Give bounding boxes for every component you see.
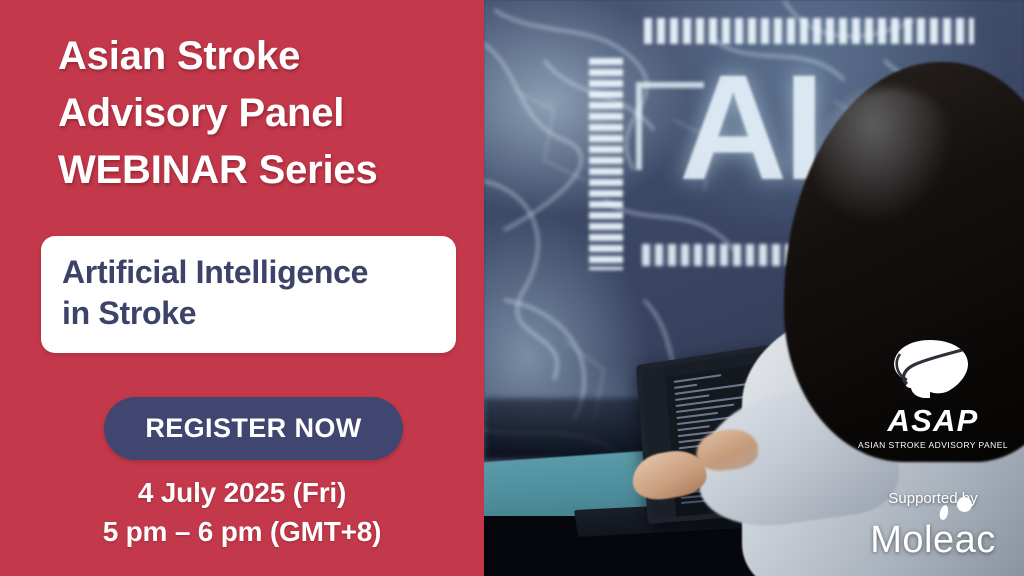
data-bar-strip-vertical [589, 58, 623, 270]
brain-icon [890, 338, 976, 402]
headline-line-1: Asian Stroke [58, 28, 468, 85]
headline-line-2: Advisory Panel [58, 85, 468, 142]
brand-block: ASAP ASIAN STROKE ADVISORY PANEL Support… [848, 338, 1018, 559]
schedule-date: 4 July 2025 (Fri) [0, 474, 484, 513]
woman-hair-highlight [814, 88, 964, 238]
circuit-bracket [636, 82, 704, 170]
schedule: 4 July 2025 (Fri) 5 pm – 6 pm (GMT+8) [0, 474, 484, 551]
asap-acronym: ASAP [848, 405, 1018, 436]
moleac-wordmark: Moleac [870, 519, 996, 561]
register-now-button[interactable]: REGISTER NOW [104, 397, 403, 460]
moleac-logo: Moleac [848, 521, 1018, 559]
data-bar-strip-top [644, 18, 974, 44]
topic-card: Artificial Intelligence in Stroke [41, 236, 456, 353]
topic-title-line-2: in Stroke [62, 293, 436, 334]
webinar-banner: AI [0, 0, 1024, 576]
topic-title-line-1: Artificial Intelligence [62, 252, 436, 293]
asap-full-name: ASIAN STROKE ADVISORY PANEL [848, 440, 1018, 450]
moleac-dot-large-icon [957, 497, 972, 512]
hero-photo: AI [484, 0, 1024, 576]
schedule-time: 5 pm – 6 pm (GMT+8) [0, 513, 484, 552]
left-red-panel: Asian Stroke Advisory Panel WEBINAR Seri… [0, 0, 484, 576]
topic-title: Artificial Intelligence in Stroke [62, 252, 436, 334]
headline: Asian Stroke Advisory Panel WEBINAR Seri… [58, 28, 468, 198]
headline-line-3: WEBINAR Series [58, 142, 468, 199]
supported-by-label: Supported by [848, 490, 1018, 507]
